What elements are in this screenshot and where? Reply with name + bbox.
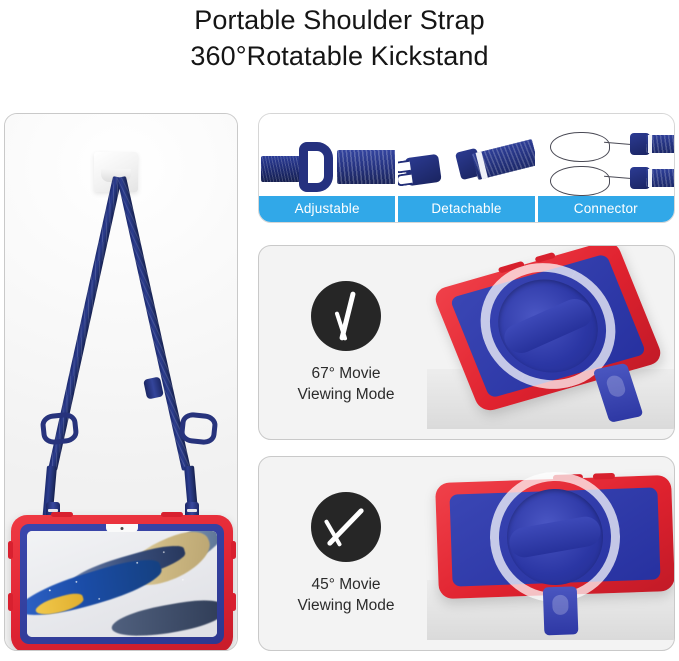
bumper-nub	[231, 593, 236, 611]
connector-webbing	[646, 135, 674, 153]
feature-cell-detachable[interactable]: Detachable	[398, 114, 537, 222]
wallpaper-sparkle-overlay	[27, 531, 217, 637]
rotation-arrow-icon	[488, 470, 622, 604]
feature-cell-adjustable[interactable]: Adjustable	[259, 114, 398, 222]
power-button	[593, 473, 615, 480]
power-button	[534, 252, 556, 263]
mode-45-info: 45° Movie Viewing Mode	[281, 457, 411, 650]
mode-panel-67: 67° Movie Viewing Mode	[258, 245, 675, 440]
case-blue-plate	[449, 487, 660, 586]
caption-detachable: Detachable	[398, 196, 534, 222]
detachable-webbing	[472, 139, 535, 180]
tablet-rear-45	[435, 475, 674, 599]
strap-feature-list: Adjustable Detachable	[259, 114, 674, 222]
strap-features-panel: Adjustable Detachable	[258, 113, 675, 223]
case-red-shell	[435, 475, 674, 599]
adjustable-art	[259, 114, 395, 196]
caption-adjustable: Adjustable	[259, 196, 395, 222]
cord-loop-icon	[550, 166, 610, 196]
connector-webbing	[646, 169, 674, 187]
kickstand-steep-icon	[311, 281, 381, 351]
adjustable-d-ring-icon	[299, 142, 333, 192]
bumper-nub	[8, 541, 13, 559]
cord-loop-icon	[550, 132, 610, 162]
bumper-nub	[51, 512, 73, 517]
mode-panel-45: 45° Movie Viewing Mode	[258, 456, 675, 651]
d-ring-right	[178, 411, 218, 446]
case-inner-frame	[20, 524, 224, 644]
bumper-nub	[8, 593, 13, 611]
mode-45-label-line1: 45° Movie	[311, 574, 380, 595]
kickstand-reclined-icon	[311, 492, 381, 562]
mode-67-info: 67° Movie Viewing Mode	[281, 246, 411, 439]
bumper-nub	[161, 512, 183, 517]
tablet-screen	[27, 531, 217, 637]
mode-45-label-line2: Viewing Mode	[297, 595, 394, 616]
detachable-art	[398, 114, 534, 196]
strap-keeper	[143, 376, 164, 399]
page-title: Portable Shoulder Strap 360°Rotatable Ki…	[0, 2, 679, 74]
tablet-in-case	[11, 515, 233, 651]
caption-connector: Connector	[538, 196, 674, 222]
buckle-male-icon	[405, 154, 443, 186]
mode-67-label-line2: Viewing Mode	[297, 384, 394, 405]
d-ring-left	[39, 411, 79, 446]
bumper-nub	[231, 541, 236, 559]
title-line-1: Portable Shoulder Strap	[0, 2, 679, 38]
feature-cell-connector[interactable]: Connector	[538, 114, 674, 222]
left-panel-scene	[5, 114, 237, 650]
connector-art	[538, 114, 674, 196]
title-line-2: 360°Rotatable Kickstand	[0, 38, 679, 74]
mode-67-photo	[409, 246, 674, 439]
front-camera-icon	[106, 524, 138, 532]
webbing-right	[337, 150, 395, 184]
hanging-strap-panel	[4, 113, 238, 651]
kickstand-leg	[543, 586, 579, 635]
mode-45-photo	[409, 457, 674, 650]
mode-67-label-line1: 67° Movie	[311, 363, 380, 384]
